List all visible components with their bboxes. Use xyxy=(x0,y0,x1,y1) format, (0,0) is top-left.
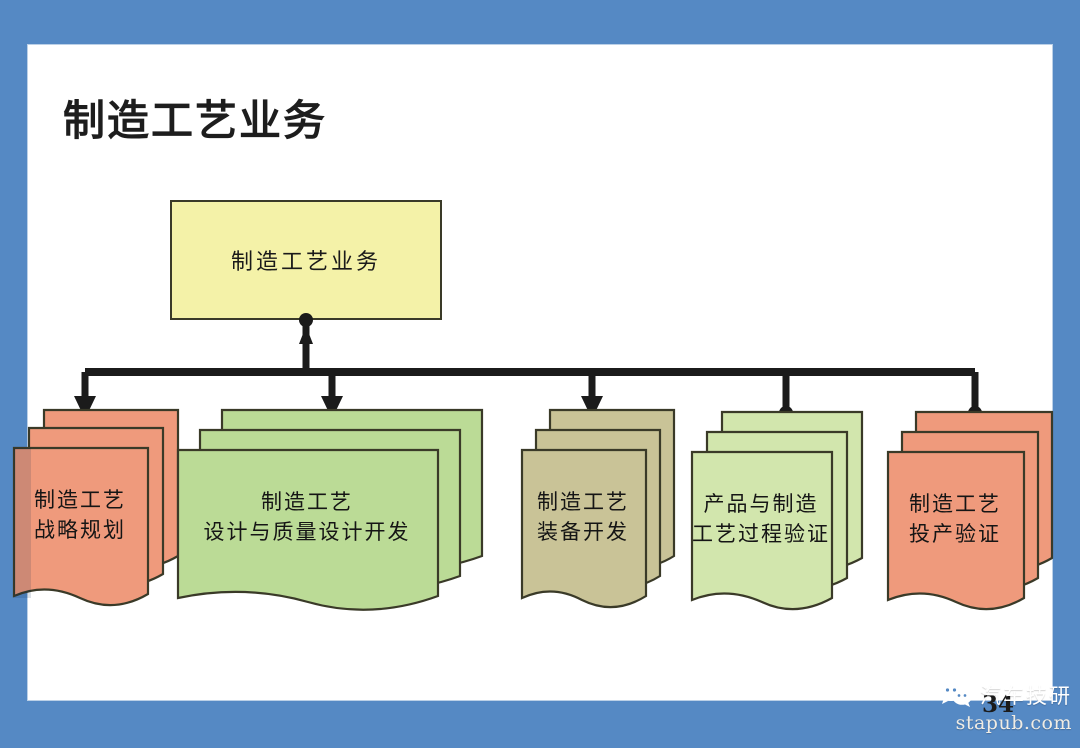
document-stack-front xyxy=(14,448,148,605)
node-production-launch-validation[interactable]: 制造工艺 投产验证 xyxy=(886,410,1058,615)
wechat-icon xyxy=(939,681,973,709)
node-design-quality-development[interactable]: 制造工艺 设计与质量设计开发 xyxy=(176,408,488,613)
watermark: 汽车技研 stapub.com xyxy=(939,680,1072,734)
node-product-process-validation[interactable]: 产品与制造 工艺过程验证 xyxy=(690,410,868,615)
watermark-url: stapub.com xyxy=(956,712,1072,734)
slide-root: 制造工艺业务 制造工艺业务 xyxy=(0,0,1080,748)
node-strategy-planning[interactable]: 制造工艺 战略规划 xyxy=(12,408,184,613)
watermark-account: 汽车技研 xyxy=(980,680,1072,710)
connector-lines xyxy=(0,0,1080,748)
node-equipment-development[interactable]: 制造工艺 装备开发 xyxy=(520,408,680,613)
